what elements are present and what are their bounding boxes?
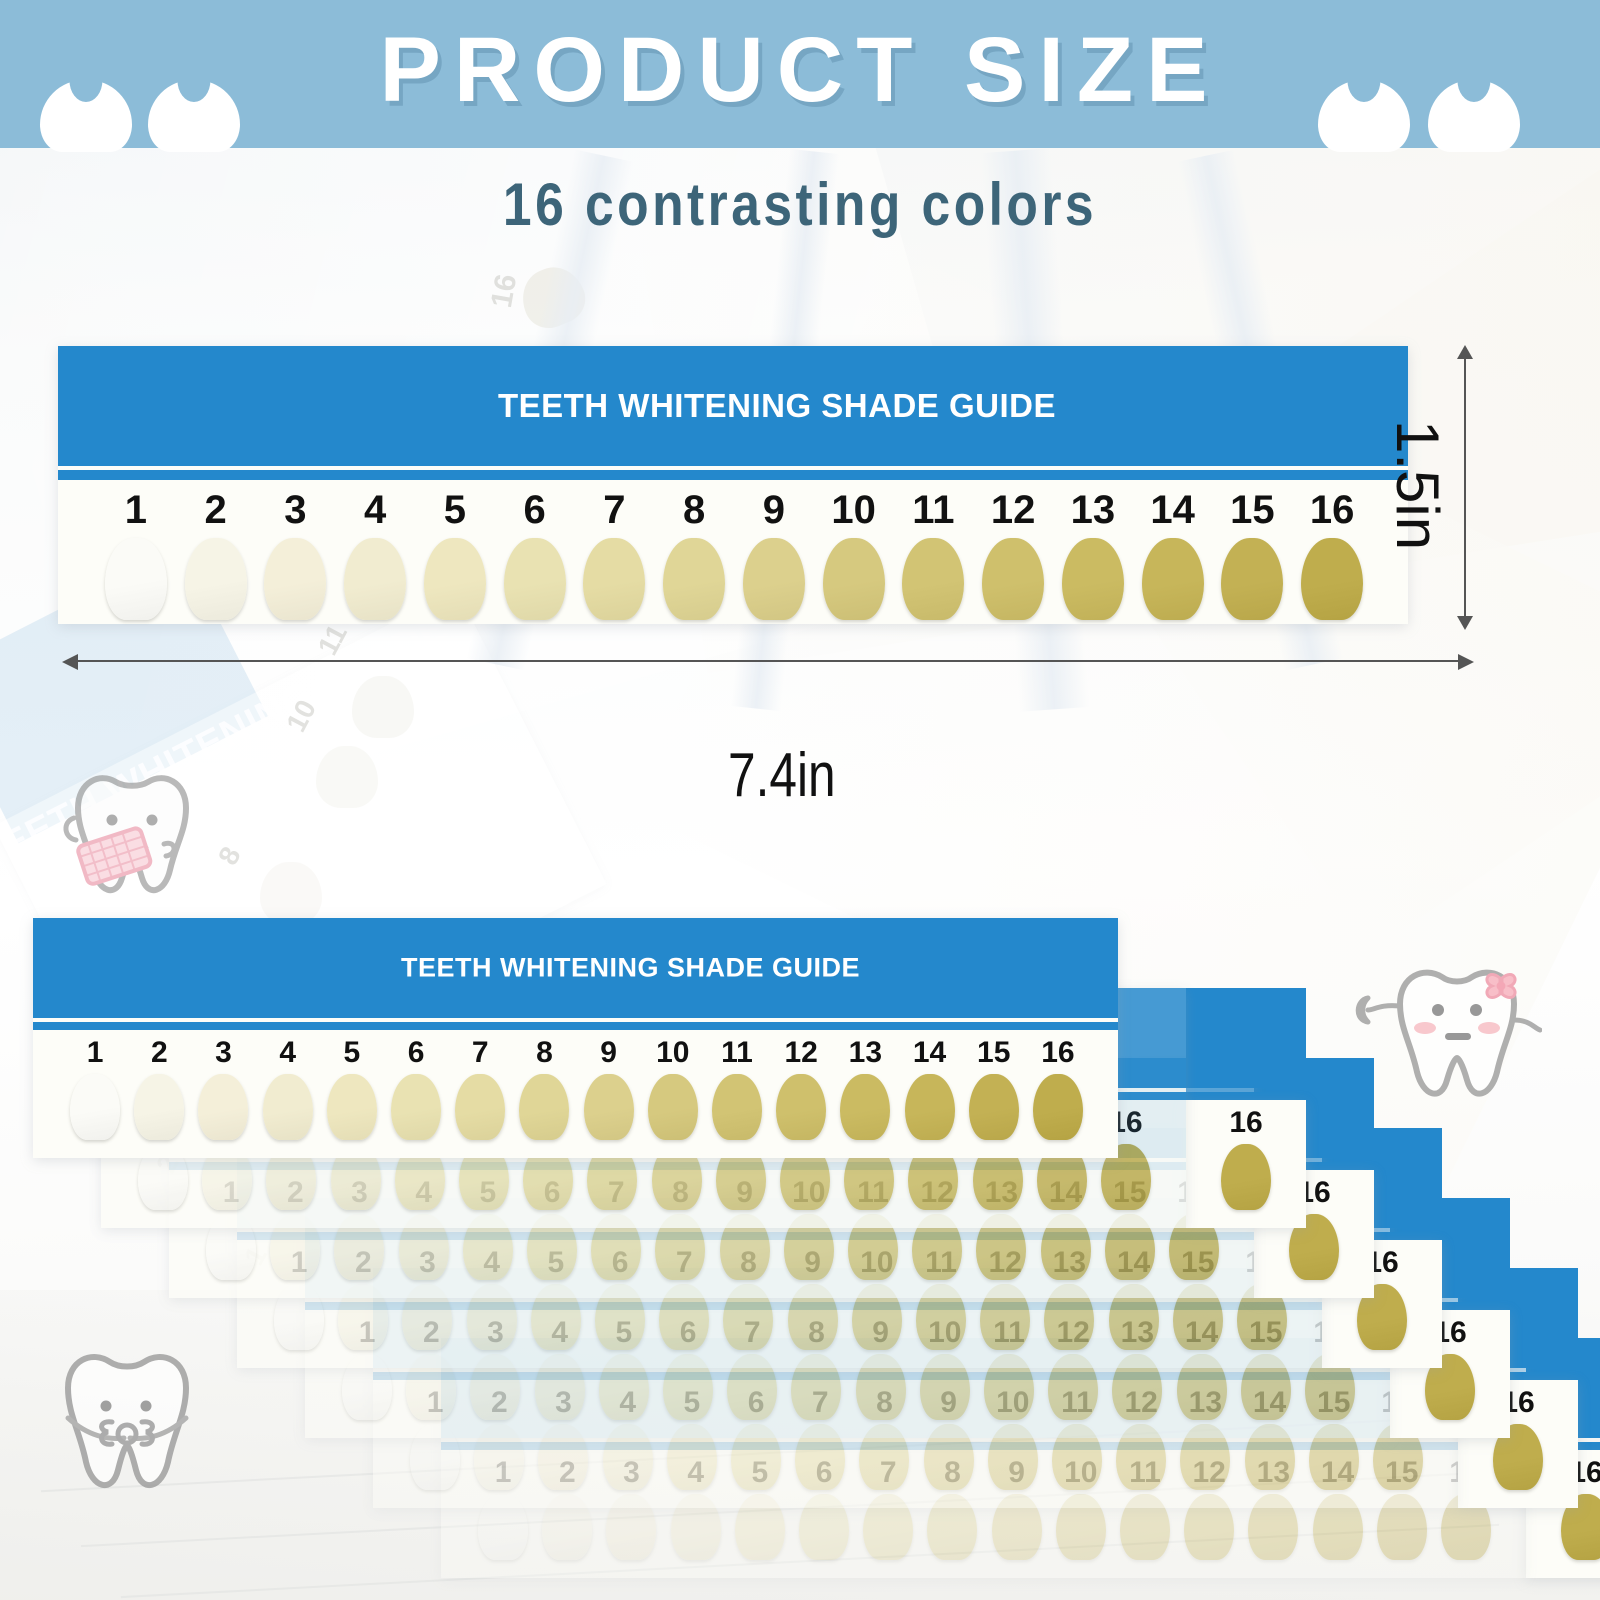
- card-header: TEETH WHITENING SHADE GUIDE: [33, 918, 1118, 1018]
- shade-swatch[interactable]: 9: [577, 1038, 641, 1140]
- shade-swatch[interactable]: 7: [448, 1038, 512, 1140]
- page-title: PRODUCT SIZE: [0, 18, 1600, 123]
- shade-number: 7: [575, 490, 655, 530]
- shade-number: 6: [495, 490, 575, 530]
- tooth-swatch[interactable]: [327, 1074, 377, 1140]
- tooth-swatch[interactable]: [840, 1074, 890, 1140]
- shade-number: 8: [512, 1038, 576, 1068]
- tooth-swatch[interactable]: [584, 1074, 634, 1140]
- shade-number: 4: [256, 1038, 320, 1068]
- shade-number: 15: [962, 1038, 1026, 1068]
- shade-number: 12: [973, 490, 1053, 530]
- shade-number: 5: [415, 490, 495, 530]
- shade-number: 14: [897, 1038, 961, 1068]
- tooth-swatch[interactable]: [455, 1074, 505, 1140]
- tooth-swatch[interactable]: [1142, 538, 1204, 620]
- tooth-swatch[interactable]: [823, 538, 885, 620]
- shade-number: 9: [577, 1038, 641, 1068]
- shade-number: 5: [320, 1038, 384, 1068]
- tooth-swatch[interactable]: [743, 538, 805, 620]
- shade-guide-card-front[interactable]: TEETH WHITENING SHADE GUIDE1234567891011…: [33, 918, 1118, 1158]
- height-dimension-arrow-top: [1457, 345, 1473, 359]
- width-dimension-line: [78, 660, 1458, 662]
- shade-number: 12: [769, 1038, 833, 1068]
- tooth-swatch[interactable]: [519, 1074, 569, 1140]
- shade-swatch[interactable]: 3: [256, 490, 336, 620]
- tooth-swatch[interactable]: [969, 1074, 1019, 1140]
- shade-number: 6: [384, 1038, 448, 1068]
- shade-number: 1: [96, 490, 176, 530]
- shade-number: 2: [176, 490, 256, 530]
- shade-swatch[interactable]: 14: [897, 1038, 961, 1140]
- shade-swatch[interactable]: 15: [962, 1038, 1026, 1140]
- tooth-swatch[interactable]: [1221, 538, 1283, 620]
- card-divider: [33, 1022, 1118, 1030]
- tooth-swatch[interactable]: [198, 1074, 248, 1140]
- shade-number: 4: [335, 490, 415, 530]
- height-dimension-arrow-bottom: [1457, 616, 1473, 630]
- shade-swatch[interactable]: 10: [814, 490, 894, 620]
- stacked-card-tab[interactable]: 16: [1186, 988, 1306, 1228]
- shade-swatch[interactable]: 5: [415, 490, 495, 620]
- shade-number: 10: [641, 1038, 705, 1068]
- shade-swatch[interactable]: 4: [256, 1038, 320, 1140]
- shade-swatch[interactable]: 12: [769, 1038, 833, 1140]
- tooth-swatch[interactable]: [344, 538, 406, 620]
- shade-number: 8: [654, 490, 734, 530]
- tooth-mascot-with-bow: [1352, 948, 1542, 1118]
- tooth-swatch[interactable]: [1301, 538, 1363, 620]
- shade-swatch[interactable]: 2: [127, 1038, 191, 1140]
- tooth-swatch[interactable]: [663, 538, 725, 620]
- tooth-swatch[interactable]: [264, 538, 326, 620]
- shade-number: 3: [191, 1038, 255, 1068]
- background-ghost-tooth: [260, 862, 322, 924]
- shade-swatch[interactable]: 16: [1026, 1038, 1090, 1140]
- width-dimension-label: 7.4in: [728, 740, 836, 811]
- shade-swatch[interactable]: 9: [734, 490, 814, 620]
- tooth-swatch[interactable]: [1062, 538, 1124, 620]
- tooth-swatch[interactable]: [583, 538, 645, 620]
- tooth-mascot-with-patch: [52, 752, 212, 912]
- stacked-card-tab-body: 16: [1186, 1100, 1306, 1228]
- shade-swatch[interactable]: 15: [1213, 490, 1293, 620]
- shade-swatch[interactable]: 11: [705, 1038, 769, 1140]
- tooth-swatch[interactable]: [1033, 1074, 1083, 1140]
- card-divider: [58, 470, 1408, 480]
- tooth-swatch[interactable]: [105, 538, 167, 620]
- tooth-swatch[interactable]: [982, 538, 1044, 620]
- card-title: TEETH WHITENING SHADE GUIDE: [498, 387, 1056, 425]
- shade-swatch[interactable]: 1: [96, 490, 176, 620]
- shade-swatch[interactable]: 4: [335, 490, 415, 620]
- shade-number: 16: [1292, 490, 1372, 530]
- tooth-swatch[interactable]: [712, 1074, 762, 1140]
- shade-swatch[interactable]: 10: [641, 1038, 705, 1140]
- shade-number: 15: [1213, 490, 1293, 530]
- shade-number: 11: [894, 490, 974, 530]
- shade-swatch[interactable]: 1: [63, 1038, 127, 1140]
- card-swatch-row: 12345678910111213141516: [58, 480, 1408, 624]
- shade-number: 13: [833, 1038, 897, 1068]
- shade-number: 7: [448, 1038, 512, 1068]
- shade-number: 3: [256, 490, 336, 530]
- height-dimension-line: [1464, 352, 1466, 622]
- shade-swatch[interactable]: 13: [833, 1038, 897, 1140]
- tooth-swatch[interactable]: [902, 538, 964, 620]
- shade-swatch[interactable]: 11: [894, 490, 974, 620]
- tooth-swatch[interactable]: [263, 1074, 313, 1140]
- tooth-swatch[interactable]: [185, 538, 247, 620]
- card-header: TEETH WHITENING SHADE GUIDE: [58, 346, 1408, 466]
- shade-swatch[interactable]: 8: [654, 490, 734, 620]
- tooth-swatch[interactable]: [504, 538, 566, 620]
- shade-swatch[interactable]: 13: [1053, 490, 1133, 620]
- shade-guide-card[interactable]: TEETH WHITENING SHADE GUIDE1234567891011…: [58, 346, 1408, 624]
- card-title: TEETH WHITENING SHADE GUIDE: [401, 953, 860, 984]
- shade-swatch[interactable]: 5: [320, 1038, 384, 1140]
- stacked-card-tab-number: 16: [1186, 1100, 1306, 1138]
- shade-swatch[interactable]: 12: [973, 490, 1053, 620]
- tooth-swatch[interactable]: [1221, 1144, 1271, 1210]
- shade-number: 1: [63, 1038, 127, 1068]
- shade-swatch[interactable]: 6: [495, 490, 575, 620]
- stacked-card-tab-header: [1186, 988, 1306, 1088]
- shade-swatch[interactable]: 8: [512, 1038, 576, 1140]
- background-ghost-tooth: [316, 746, 378, 808]
- shade-number: 13: [1053, 490, 1133, 530]
- shade-number: 16: [1026, 1038, 1090, 1068]
- shade-number: 11: [705, 1038, 769, 1068]
- shade-number: 10: [814, 490, 894, 530]
- tooth-mascot-kiss: [46, 1336, 216, 1506]
- height-dimension-label: 1.5in: [1383, 420, 1452, 550]
- shade-swatch[interactable]: 2: [176, 490, 256, 620]
- shade-swatch[interactable]: 3: [191, 1038, 255, 1140]
- tooth-swatch[interactable]: [776, 1074, 826, 1140]
- shade-number: 14: [1133, 490, 1213, 530]
- tooth-swatch[interactable]: [424, 538, 486, 620]
- width-dimension-arrow-left: [62, 654, 78, 670]
- page-subtitle: 16 contrasting colors: [112, 170, 1488, 239]
- tooth-swatch[interactable]: [134, 1074, 184, 1140]
- shade-swatch[interactable]: 7: [575, 490, 655, 620]
- background-ghost-number: 16: [485, 272, 524, 311]
- stacked-card-tab-divider: [1186, 1092, 1306, 1100]
- shade-number: 9: [734, 490, 814, 530]
- tooth-swatch[interactable]: [905, 1074, 955, 1140]
- background-ghost-tooth: [352, 676, 414, 738]
- width-dimension-arrow-right: [1458, 654, 1474, 670]
- tooth-swatch[interactable]: [391, 1074, 441, 1140]
- tooth-swatch[interactable]: [70, 1074, 120, 1140]
- shade-swatch[interactable]: 16: [1292, 490, 1372, 620]
- shade-swatch[interactable]: 6: [384, 1038, 448, 1140]
- shade-swatch[interactable]: 14: [1133, 490, 1213, 620]
- shade-number: 2: [127, 1038, 191, 1068]
- tooth-swatch[interactable]: [648, 1074, 698, 1140]
- card-swatch-row: 12345678910111213141516: [33, 1030, 1118, 1158]
